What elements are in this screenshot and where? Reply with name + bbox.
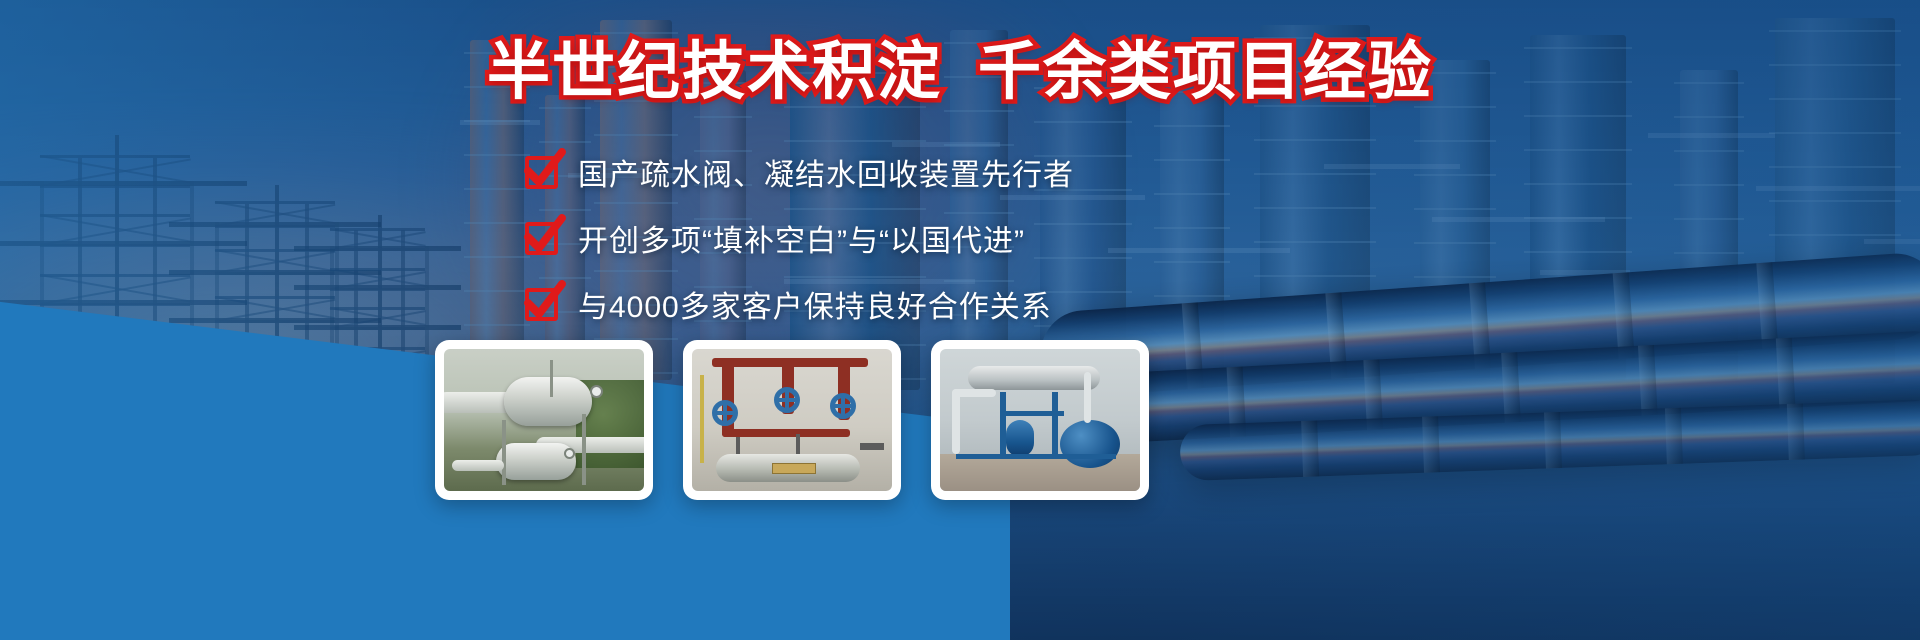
checkbox-checked-icon — [525, 222, 558, 255]
checkbox-checked-icon — [525, 156, 558, 189]
photo-red-pipework-valve-station — [692, 349, 892, 491]
bullet-text: 国产疏水阀、凝结水回收装置先行者 — [578, 150, 1074, 194]
bullet-text: 与4000多家客户保持良好合作关系 — [578, 282, 1052, 326]
bullet-text: 开创多项“填补空白”与“以国代进” — [578, 216, 1025, 260]
bullet-item: 与4000多家客户保持良好合作关系 — [525, 282, 1285, 326]
bullet-item: 国产疏水阀、凝结水回收装置先行者 — [525, 150, 1285, 194]
bullet-item: 开创多项“填补空白”与“以国代进” — [525, 216, 1285, 260]
product-photo-cards — [435, 340, 1149, 500]
photo-card[interactable] — [435, 340, 653, 500]
feature-bullet-list: 国产疏水阀、凝结水回收装置先行者 开创多项“填补空白”与“以国代进” 与4000… — [525, 150, 1285, 348]
headline-part-2: 千余类项目经验 — [978, 37, 1433, 107]
photo-card[interactable] — [931, 340, 1149, 500]
checkbox-checked-icon — [525, 288, 558, 321]
headline: 半世纪技术积淀千余类项目经验 — [0, 38, 1920, 106]
promotional-banner: 半世纪技术积淀千余类项目经验 国产疏水阀、凝结水回收装置先行者 开创多项“填补空… — [0, 0, 1920, 640]
photo-condensate-recovery-vessels — [444, 349, 644, 491]
headline-part-1: 半世纪技术积淀 — [487, 37, 942, 107]
photo-blue-tank-skid-unit — [940, 349, 1140, 491]
photo-card[interactable] — [683, 340, 901, 500]
